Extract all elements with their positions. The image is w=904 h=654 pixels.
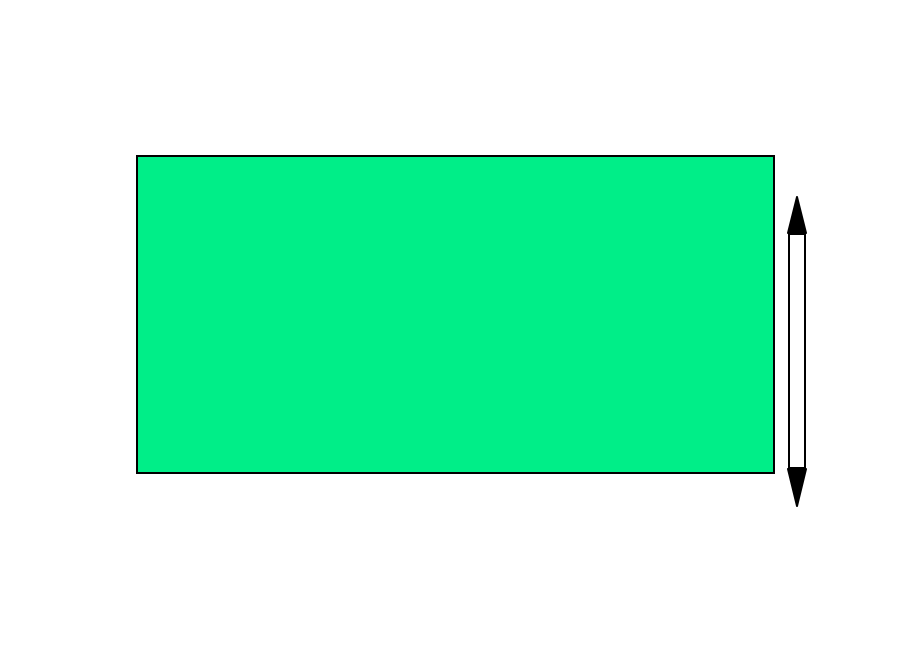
contour-plot-area [136, 155, 775, 474]
colorbar-bands [788, 233, 806, 469]
colorbar-bottom-arrow-cap [783, 467, 811, 507]
colorbar [783, 196, 815, 506]
contour-field-canvas [138, 157, 773, 472]
colorbar-top-arrow-cap [783, 196, 811, 234]
